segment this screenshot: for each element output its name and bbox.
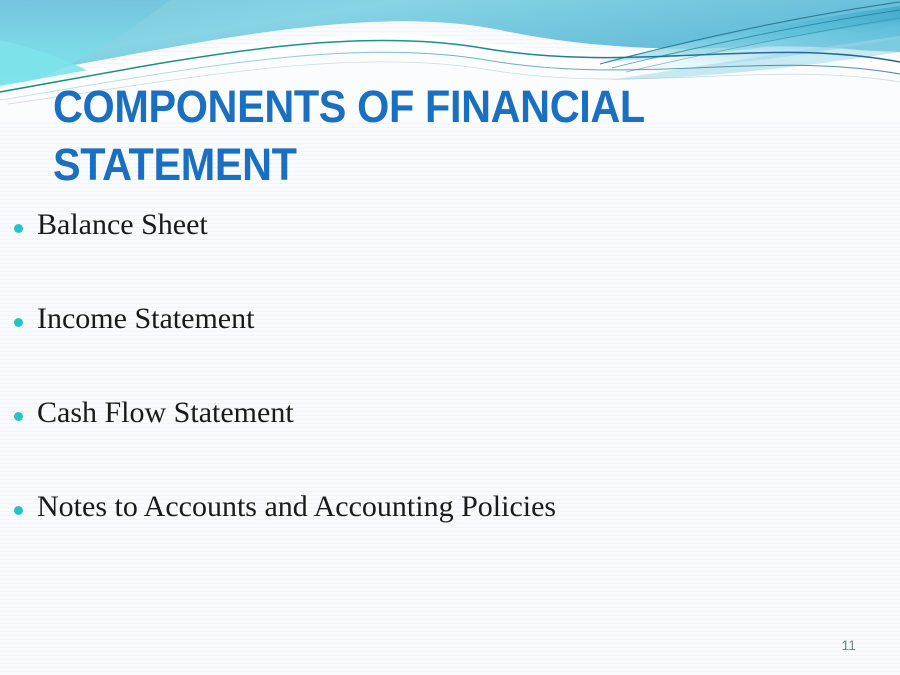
list-item[interactable]: Income Statement (0, 299, 880, 393)
bullet-list: Balance Sheet Income Statement Cash Flow… (0, 205, 880, 581)
list-item[interactable]: Notes to Accounts and Accounting Policie… (0, 487, 880, 581)
bullet-dot-icon (14, 506, 23, 515)
bullet-dot-icon (14, 224, 23, 233)
slide-number: 11 (841, 637, 856, 653)
list-item-label: Balance Sheet (37, 205, 880, 245)
list-item-label: Notes to Accounts and Accounting Policie… (37, 487, 880, 527)
list-item[interactable]: Balance Sheet (0, 205, 880, 299)
bullet-dot-icon (14, 318, 23, 327)
list-item-label: Income Statement (37, 299, 880, 339)
slide: COMPONENTS OF FINANCIAL STATEMENT Balanc… (0, 0, 900, 675)
slide-title: COMPONENTS OF FINANCIAL STATEMENT (53, 78, 789, 194)
list-item[interactable]: Cash Flow Statement (0, 393, 880, 487)
bullet-dot-icon (14, 412, 23, 421)
list-item-label: Cash Flow Statement (37, 393, 880, 433)
